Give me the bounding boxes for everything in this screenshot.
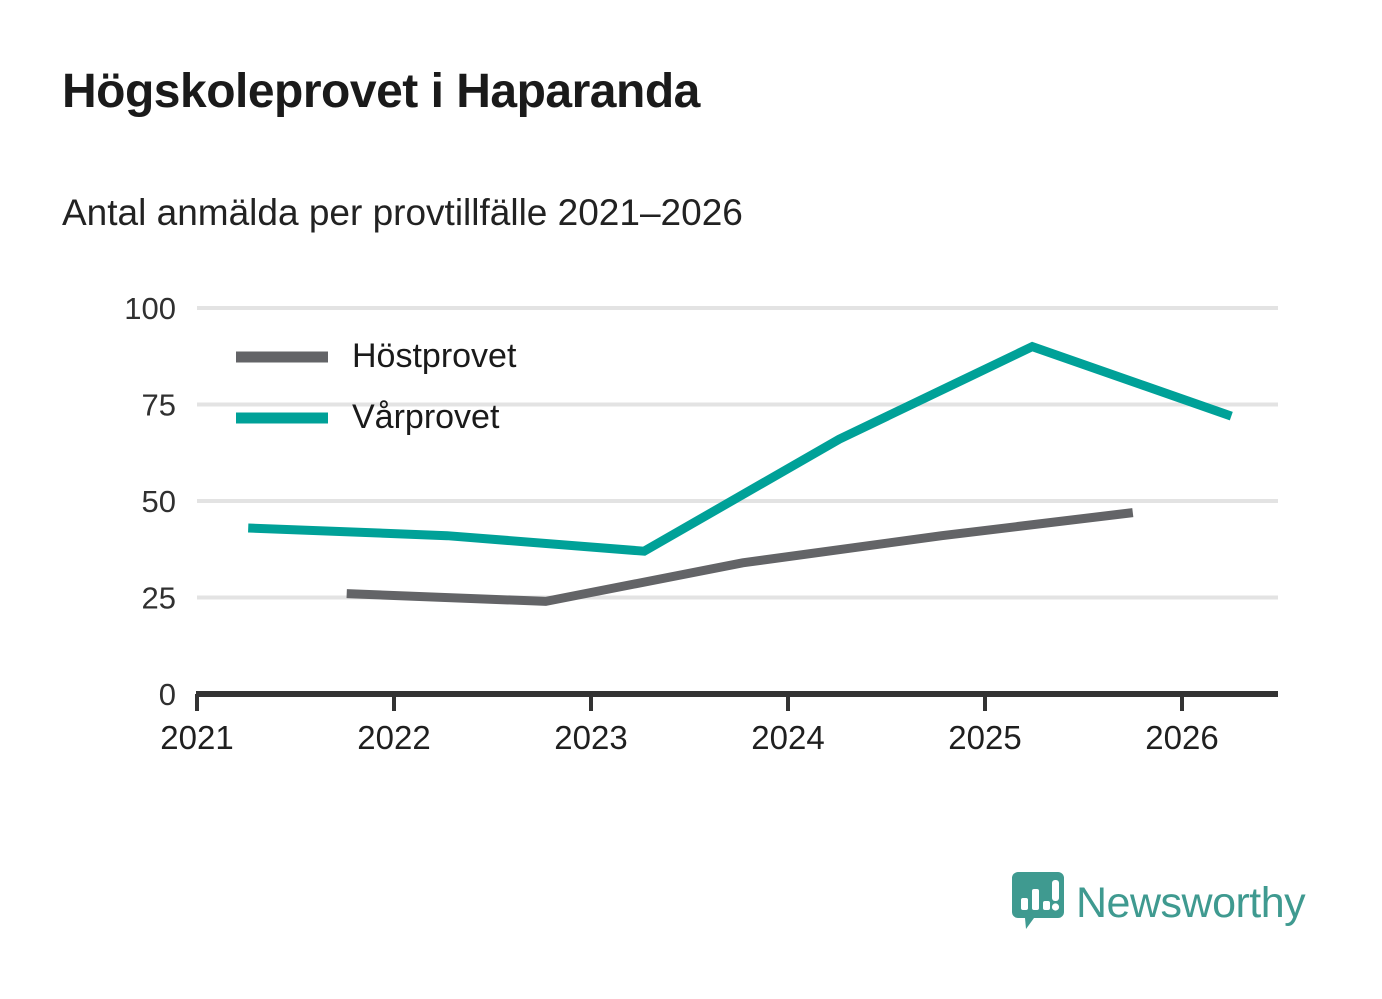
y-axis-tick-label: 100 [124, 291, 176, 326]
logo-icon-svg [1012, 872, 1064, 930]
y-axis-tick-label: 25 [142, 581, 176, 616]
y-axis-tick-label: 75 [142, 388, 176, 423]
chart-plot-area: 0255075100 202120222023202420252026 Höst… [0, 0, 1382, 999]
line-chart-svg: 0255075100 202120222023202420252026 Höst… [0, 0, 1382, 999]
legend-label-vårprovet: Vårprovet [352, 398, 500, 436]
newsworthy-logo: Newsworthy [1012, 872, 1305, 935]
newsworthy-bar-chart-bubble-icon [1012, 872, 1064, 935]
chart-legend: HöstprovetVårprovet [236, 337, 517, 436]
x-axis-tick-label: 2025 [948, 719, 1021, 756]
x-axis-tick-label: 2024 [751, 719, 824, 756]
x-axis-tick-label: 2022 [357, 719, 430, 756]
x-axis-tick-label: 2023 [554, 719, 627, 756]
x-axis-tick-label: 2021 [160, 719, 233, 756]
newsworthy-logo-text: Newsworthy [1076, 882, 1305, 925]
x-axis-tick-labels: 202120222023202420252026 [160, 719, 1218, 756]
y-axis-tick-label: 0 [159, 677, 176, 712]
chart-page: Högskoleprovet i Haparanda Antal anmälda… [0, 0, 1382, 999]
x-axis-tick-label: 2026 [1145, 719, 1218, 756]
y-axis-tick-labels: 0255075100 [124, 291, 176, 712]
y-axis-tick-label: 50 [142, 484, 176, 519]
data-series-group [248, 347, 1231, 602]
legend-label-höstprovet: Höstprovet [352, 337, 517, 375]
series-line-höstprovet [347, 513, 1133, 602]
